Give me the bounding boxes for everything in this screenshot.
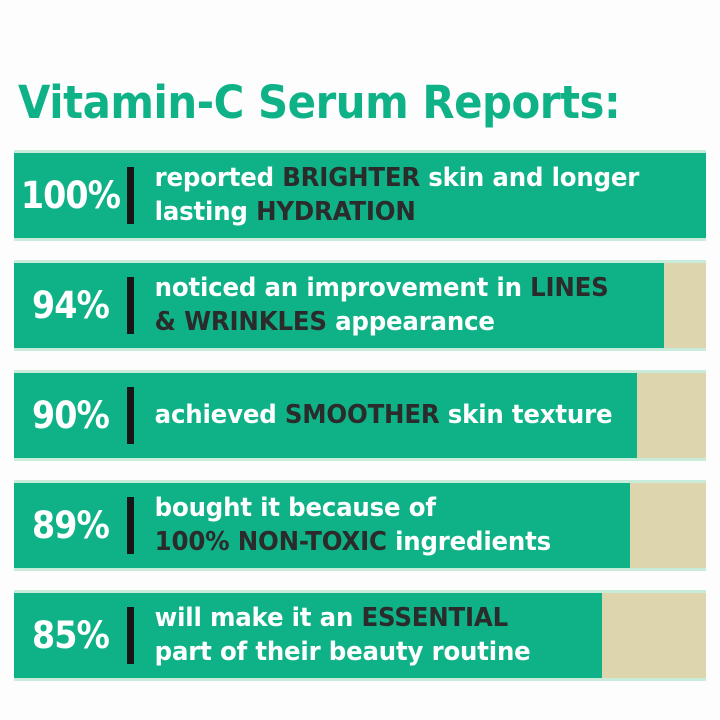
stat-percent-label: 94% — [20, 287, 122, 324]
stat-bar-content: 89%bought it because of100% NON-TOXIC in… — [14, 483, 706, 568]
stat-bar-row: 85%will make it an ESSENTIALpart of thei… — [14, 590, 706, 681]
normal-text: skin and longer — [420, 163, 639, 193]
stat-description: reported BRIGHTER skin and longerlasting… — [134, 162, 672, 230]
stat-description-line: part of their beauty routine — [155, 636, 663, 670]
normal-text: noticed an improvement in — [155, 273, 530, 303]
stat-bar-content: 94%noticed an improvement in LINES& WRIN… — [14, 263, 706, 348]
vertical-divider-icon — [127, 607, 134, 664]
highlight-text: BRIGHTER — [282, 163, 420, 193]
vertical-divider-icon — [127, 387, 134, 444]
stat-description-line: achieved SMOOTHER skin texture — [155, 399, 663, 433]
stat-description-line: & WRINKLES appearance — [155, 306, 663, 340]
stat-description-line: 100% NON-TOXIC ingredients — [155, 526, 663, 560]
stat-description-line: noticed an improvement in LINES — [155, 272, 663, 306]
stat-bar-content: 100%reported BRIGHTER skin and longerlas… — [14, 153, 706, 238]
stat-bar-list: 100%reported BRIGHTER skin and longerlas… — [14, 150, 706, 681]
highlight-text: SMOOTHER — [285, 400, 440, 430]
normal-text: part of their beauty routine — [155, 637, 531, 667]
normal-text: will make it an — [155, 603, 362, 633]
stat-bar-row: 89%bought it because of100% NON-TOXIC in… — [14, 480, 706, 571]
vertical-divider-icon — [127, 497, 134, 554]
stat-description: will make it an ESSENTIALpart of their b… — [134, 602, 672, 670]
stat-description: achieved SMOOTHER skin texture — [134, 399, 672, 433]
stat-bar-row: 94%noticed an improvement in LINES& WRIN… — [14, 260, 706, 351]
stat-bar-content: 90%achieved SMOOTHER skin texture — [14, 373, 706, 458]
vertical-divider-icon — [127, 277, 134, 334]
stat-percent-label: 85% — [20, 617, 122, 654]
highlight-text: LINES — [530, 273, 608, 303]
stat-description-line: bought it because of — [155, 492, 663, 526]
page-title: Vitamin-C Serum Reports: — [18, 80, 660, 125]
stat-description-line: lasting HYDRATION — [155, 196, 663, 230]
stat-bar-content: 85%will make it an ESSENTIALpart of thei… — [14, 593, 706, 678]
stat-description: bought it because of100% NON-TOXIC ingre… — [134, 492, 672, 560]
normal-text: lasting — [155, 197, 256, 227]
infographic-page: Vitamin-C Serum Reports: 100%reported BR… — [0, 0, 720, 720]
normal-text: skin texture — [439, 400, 612, 430]
normal-text: ingredients — [387, 527, 551, 557]
highlight-text: ESSENTIAL — [362, 603, 509, 633]
stat-bar-row: 100%reported BRIGHTER skin and longerlas… — [14, 150, 706, 241]
stat-percent-label: 90% — [20, 397, 122, 434]
normal-text: bought it because of — [155, 493, 436, 523]
stat-description-line: reported BRIGHTER skin and longer — [155, 162, 663, 196]
highlight-text: HYDRATION — [256, 197, 416, 227]
normal-text: appearance — [327, 307, 495, 337]
normal-text: achieved — [155, 400, 285, 430]
highlight-text: & WRINKLES — [155, 307, 327, 337]
stat-bar-row: 90%achieved SMOOTHER skin texture — [14, 370, 706, 461]
stat-description-line: will make it an ESSENTIAL — [155, 602, 663, 636]
stat-percent-label: 89% — [20, 507, 122, 544]
vertical-divider-icon — [127, 167, 134, 224]
stat-description: noticed an improvement in LINES& WRINKLE… — [134, 272, 672, 340]
normal-text: reported — [155, 163, 283, 193]
highlight-text: 100% NON-TOXIC — [155, 527, 387, 557]
stat-percent-label: 100% — [20, 177, 122, 214]
